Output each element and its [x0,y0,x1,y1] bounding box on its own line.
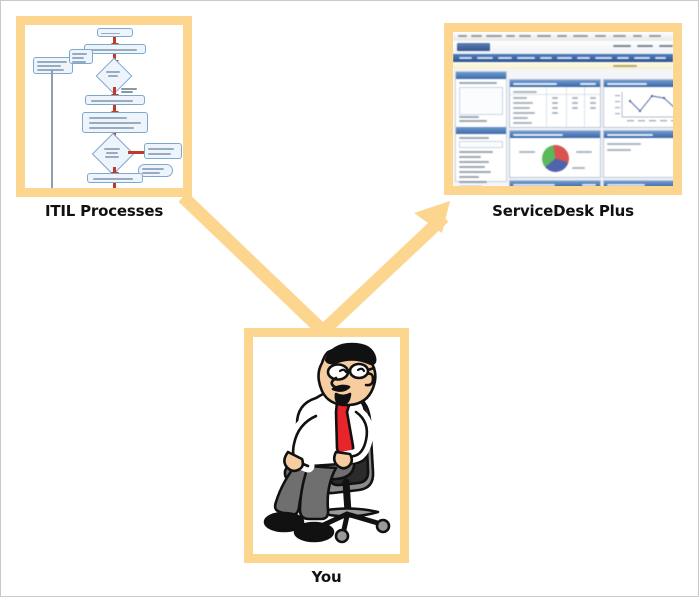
primary-nav[interactable] [453,54,673,62]
flowchart-note-right [138,164,173,177]
pie-chart [540,143,571,174]
sidebar-search[interactable] [459,141,503,148]
flowchart-branch-label [121,91,133,93]
card-header [604,131,673,138]
caption-servicedesk-plus: ServiceDesk Plus [444,202,682,220]
connector-you-to-servicedesk [323,201,450,331]
product-header [453,41,673,55]
flowchart-note-top [69,49,93,64]
flowchart-illustration [25,25,183,187]
bottom-left-card [509,180,601,186]
flowchart-arrow-right [128,151,144,154]
you-thumbnail [253,337,400,554]
person-hand-far [334,452,352,468]
flowchart-node-right [144,143,182,159]
connector-itil-to-you [183,197,323,331]
card-header [510,181,600,186]
chair-caster [377,520,389,532]
flowchart-branch-label [121,88,137,90]
flowchart-node-2 [84,44,146,54]
flowchart-node-4 [82,112,148,133]
requests-card [603,130,673,178]
servicedesk-logo [457,43,490,51]
person-goatee [336,394,350,404]
node-itil-processes[interactable] [16,16,192,197]
flowchart-decision-1-label [106,71,120,73]
summary-table-card [509,79,601,128]
flowchart-decision-2-label [106,152,118,154]
card-header [510,131,600,138]
flowchart-arrow [113,183,116,188]
flowchart-note-left [33,57,73,74]
sidebar-header [456,72,506,79]
caption-you: You [244,568,409,586]
glasses-lens-right [350,364,368,378]
trend-chart-card [603,79,673,128]
node-you[interactable] [244,328,409,563]
flowchart-decision-2-label [105,156,119,158]
flowchart-node-5 [87,173,143,183]
itil-processes-thumbnail [25,25,183,188]
flowchart-node-start [97,28,133,37]
flowchart-decision-1-label [108,75,118,77]
cartoon-person-in-office-chair [254,340,399,552]
card-header [510,80,600,87]
flowchart-loop-line [51,70,53,188]
pie-legend-label [519,151,535,153]
diagram-canvas: ITIL Processes [0,0,699,597]
sidebar-section-header [456,127,506,134]
dashboard-body [453,69,673,186]
card-header [604,80,673,87]
person-shoe-near [295,523,333,541]
flowchart-decision-2-label [104,148,120,150]
flowchart-arrow [113,105,116,112]
dashboard-illustration [453,32,673,186]
line-chart [612,90,673,124]
flowchart-arrow [113,87,116,95]
pie-legend-label [576,151,592,153]
servicedesk-plus-thumbnail [453,32,673,186]
flowchart-arrow [113,37,116,44]
dashboard-sidebar[interactable] [455,71,507,182]
person-moustache [333,385,349,390]
chair-caster [336,530,348,542]
person-illustration-wrap [253,337,400,554]
card-header [604,181,673,186]
bottom-right-card [603,180,673,186]
category-pie-card [509,130,601,178]
flowchart-node-3 [85,95,145,105]
node-servicedesk-plus[interactable] [444,23,682,195]
caption-itil-processes: ITIL Processes [16,202,192,220]
sidebar-panel [459,87,503,115]
pie-legend-label [572,167,585,169]
